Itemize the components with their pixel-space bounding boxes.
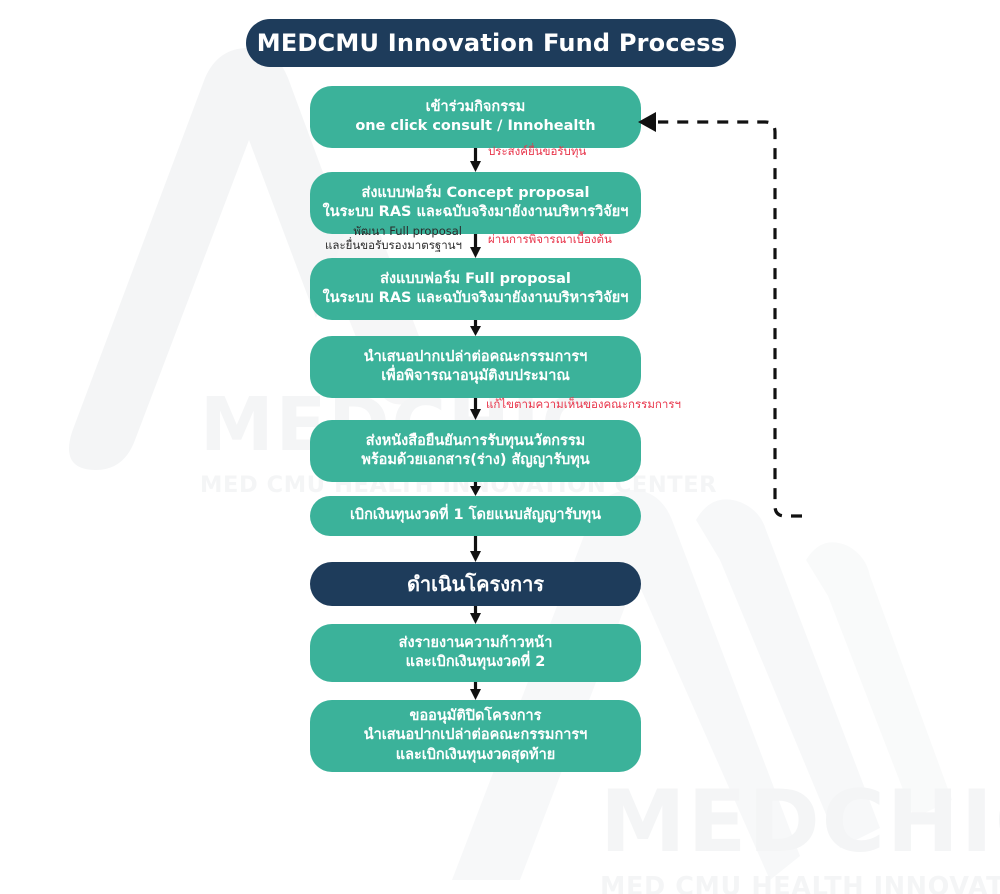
node-disburse-installment-1[interactable]: เบิกเงินทุนงวดที่ 1 โดยแนบสัญญารับทุน: [310, 496, 641, 536]
annotation-passed-initial-review: ผ่านการพิจารณาเบื้องต้น: [488, 232, 612, 246]
node-line: และเบิกเงินทุนงวดที่ 2: [406, 653, 546, 672]
node-line: ขออนุมัติปิดโครงการ: [410, 707, 542, 726]
annotation-revise-per-committee: แก้ไขตามความเห็นของคณะกรรมการฯ: [486, 397, 681, 411]
annotation-intent-to-apply: ประสงค์ยื่นขอรับทุน: [488, 144, 586, 158]
annotation-develop-full-proposal: พัฒนา Full proposal และยื่นขอรับรองมาตรฐ…: [322, 224, 462, 253]
connector-arrow-4: [470, 398, 481, 420]
node-line: เพื่อพิจารณาอนุมัติงบประมาณ: [381, 367, 570, 386]
connector-arrow-8: [470, 682, 481, 700]
node-join-activity[interactable]: เข้าร่วมกิจกรรม one click consult / Inno…: [310, 86, 641, 148]
node-line: ในระบบ RAS และฉบับจริงมายังงานบริหารวิจั…: [323, 289, 629, 308]
node-line: ส่งแบบฟอร์ม Full proposal: [380, 270, 571, 289]
connector-arrow-1: [470, 148, 481, 172]
node-line: นำเสนอปากเปล่าต่อคณะกรรมการฯ: [364, 726, 588, 745]
node-line: ในระบบ RAS และฉบับจริงมายังงานบริหารวิจั…: [323, 203, 629, 222]
node-line: เข้าร่วมกิจกรรม: [426, 98, 526, 117]
node-confirmation-letter[interactable]: ส่งหนังสือยืนยันการรับทุนนวัตกรรม พร้อมด…: [310, 420, 641, 482]
connector-arrow-5: [470, 482, 481, 496]
node-line: ส่งรายงานความก้าวหน้า: [399, 634, 553, 653]
node-line: และเบิกเงินทุนงวดสุดท้าย: [396, 746, 555, 765]
node-line: ส่งหนังสือยืนยันการรับทุนนวัตกรรม: [366, 432, 585, 451]
node-full-proposal[interactable]: ส่งแบบฟอร์ม Full proposal ในระบบ RAS และ…: [310, 258, 641, 320]
node-line: ส่งแบบฟอร์ม Concept proposal: [362, 184, 590, 203]
process-flow: MEDCMU Innovation Fund Process เข้าร่วมก…: [0, 0, 1000, 894]
connector-arrow-3: [470, 320, 481, 336]
node-line: ดำเนินโครงการ: [407, 571, 544, 597]
connector-arrow-2: [470, 234, 481, 258]
node-line: นำเสนอปากเปล่าต่อคณะกรรมการฯ: [364, 348, 588, 367]
node-run-project[interactable]: ดำเนินโครงการ: [310, 562, 641, 606]
node-line: one click consult / Innohealth: [355, 117, 595, 136]
node-line: เบิกเงินทุนงวดที่ 1 โดยแนบสัญญารับทุน: [350, 506, 601, 525]
node-oral-presentation-budget[interactable]: นำเสนอปากเปล่าต่อคณะกรรมการฯ เพื่อพิจารณ…: [310, 336, 641, 398]
annotation-line: และยื่นขอรับรองมาตรฐานฯ: [322, 238, 462, 252]
page-title: MEDCMU Innovation Fund Process: [246, 19, 736, 67]
flowchart-canvas: MEDCHIC MED CMU HEALTH INNOVATION CENTER…: [0, 0, 1000, 894]
feedback-loop-arrow: [630, 100, 810, 530]
node-progress-report-installment-2[interactable]: ส่งรายงานความก้าวหน้า และเบิกเงินทุนงวดท…: [310, 624, 641, 682]
connector-arrow-7: [470, 606, 481, 624]
annotation-line: พัฒนา Full proposal: [322, 224, 462, 238]
connector-arrow-6: [470, 536, 481, 562]
node-close-project[interactable]: ขออนุมัติปิดโครงการ นำเสนอปากเปล่าต่อคณะ…: [310, 700, 641, 772]
node-line: พร้อมด้วยเอกสาร(ร่าง) สัญญารับทุน: [361, 451, 589, 470]
